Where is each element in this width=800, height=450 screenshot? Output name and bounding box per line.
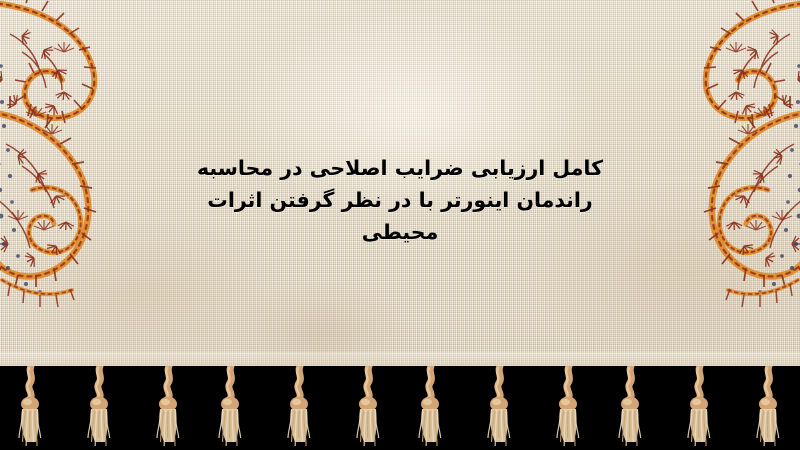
tassel — [683, 366, 717, 448]
tassel — [283, 366, 317, 448]
title-slide: کامل ارزیابی ضرایب اصلاحی در محاسبه راند… — [0, 0, 800, 450]
tassel — [414, 366, 448, 448]
tassel — [214, 366, 248, 448]
tassel — [14, 366, 48, 448]
tassel — [614, 366, 648, 448]
tassel-fringe — [0, 366, 800, 450]
tassel — [752, 366, 786, 448]
tassel — [552, 366, 586, 448]
title-line-3: محیطی — [0, 216, 800, 248]
tassel — [483, 366, 517, 448]
tassel — [152, 366, 186, 448]
title-line-2: راندمان اینورتر با در نظر گرفتن اثرات — [0, 184, 800, 216]
slide-title: کامل ارزیابی ضرایب اصلاحی در محاسبه راند… — [0, 152, 800, 248]
tassel — [352, 366, 386, 448]
tassel — [83, 366, 117, 448]
title-line-1: کامل ارزیابی ضرایب اصلاحی در محاسبه — [0, 152, 800, 184]
